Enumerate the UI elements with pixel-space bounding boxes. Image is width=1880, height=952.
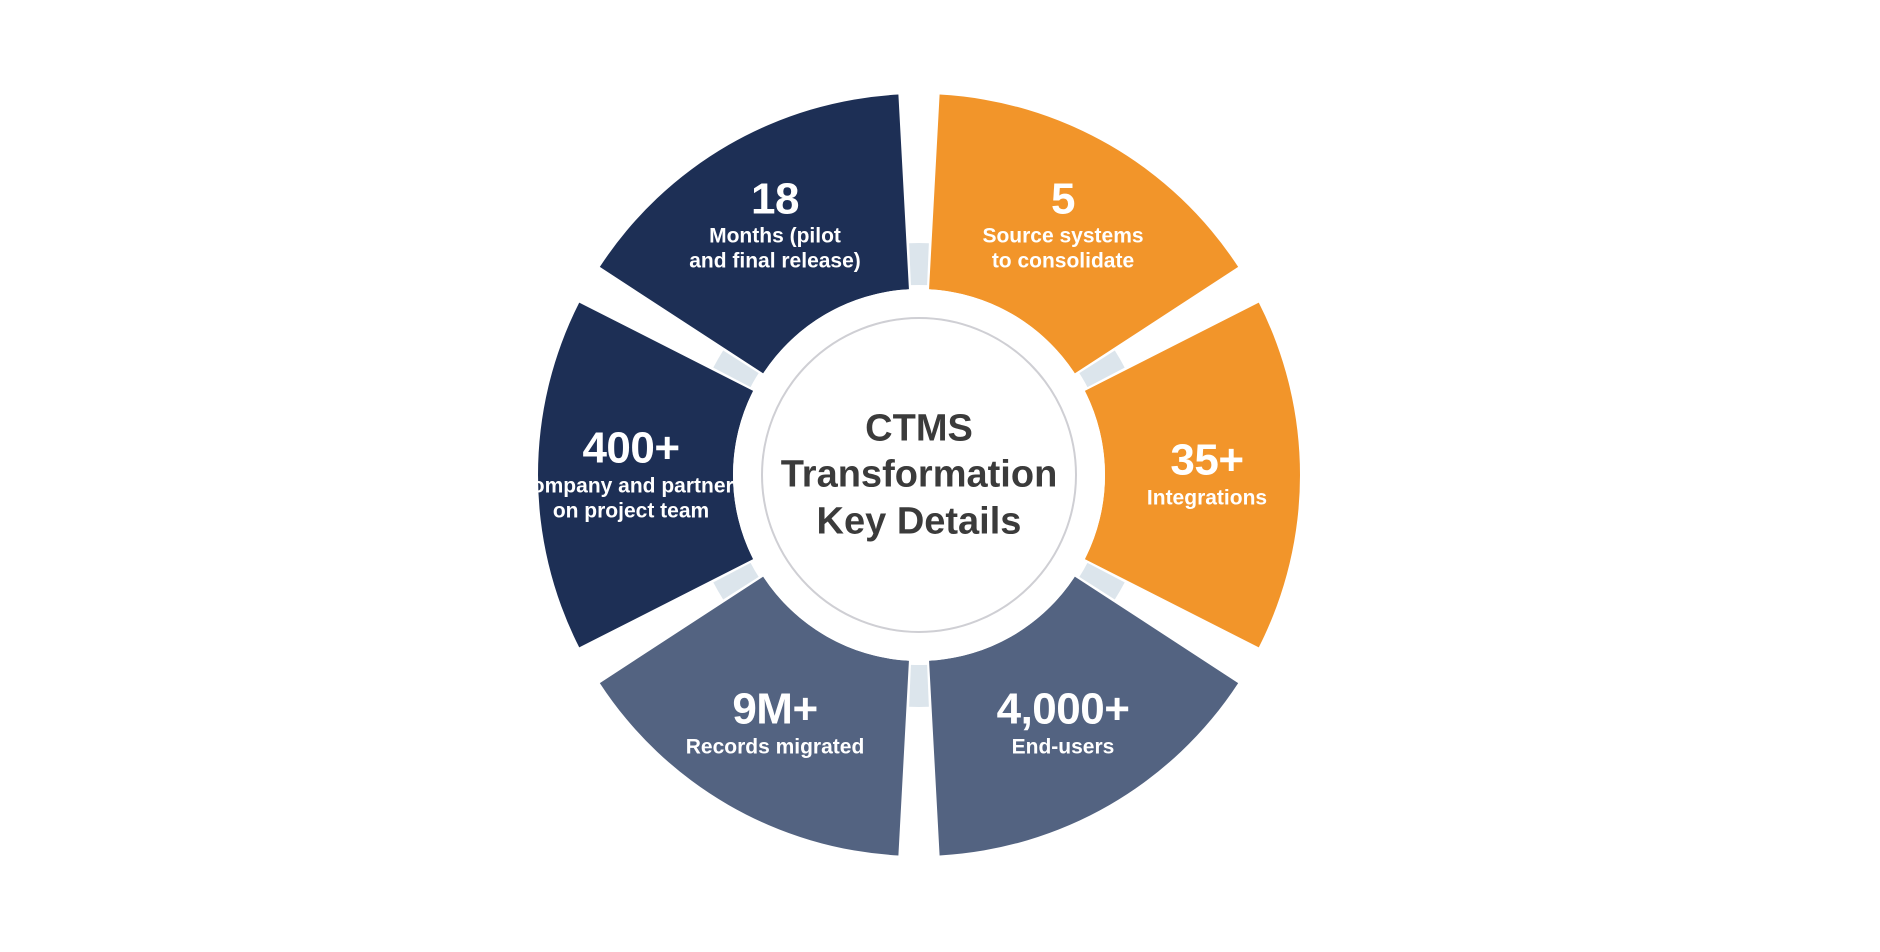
segment-connector-tab xyxy=(909,243,929,285)
donut-chart xyxy=(0,0,1880,952)
segment-connector-tab xyxy=(909,665,929,707)
center-disc xyxy=(733,289,1105,661)
infographic-canvas: 5Source systemsto consolidate35+Integrat… xyxy=(0,0,1880,952)
center-disc-group xyxy=(733,289,1105,661)
